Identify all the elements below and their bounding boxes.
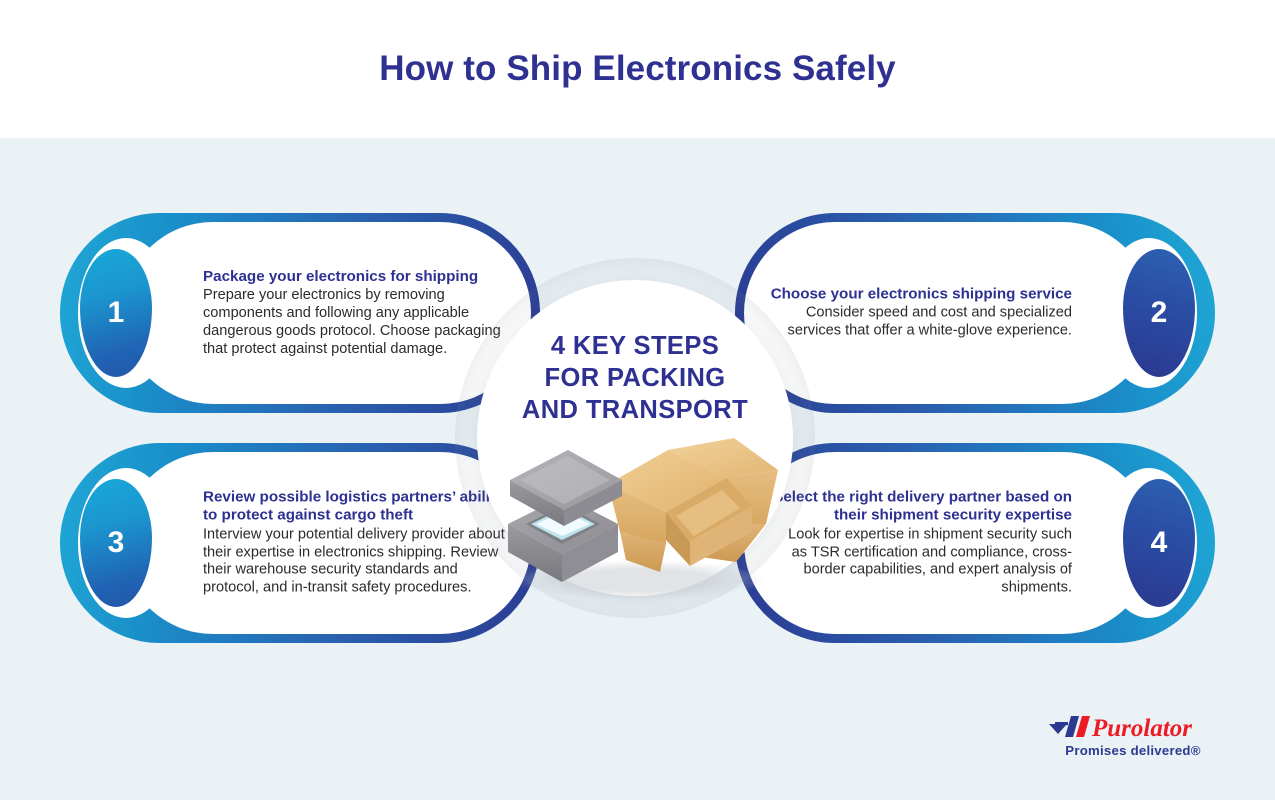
purolator-logo: Purolator Promises delivered® (1049, 712, 1217, 758)
hub-title: 4 KEY STEPS FOR PACKING AND TRANSPORT (522, 330, 748, 426)
step-number-label: 4 (1151, 526, 1168, 560)
header-band: How to Ship Electronics Safely (0, 0, 1275, 138)
hub-title-line-3: AND TRANSPORT (522, 394, 748, 426)
infographic-canvas: 1 Package your electronics for shipping … (0, 138, 1275, 800)
foam-case-and-box-icon (490, 432, 780, 602)
logo-tagline: Promises delivered® (1049, 743, 1217, 758)
page-title: How to Ship Electronics Safely (379, 49, 895, 89)
center-hub: 4 KEY STEPS FOR PACKING AND TRANSPORT (455, 258, 815, 618)
purolator-wordmark-icon: Purolator (1049, 712, 1217, 742)
step-number-label: 2 (1151, 296, 1168, 330)
step-number-label: 1 (108, 296, 125, 330)
svg-text:Purolator: Purolator (1091, 715, 1192, 742)
hub-title-line-2: FOR PACKING (522, 362, 748, 394)
hub-title-line-1: 4 KEY STEPS (522, 330, 748, 362)
packing-illustration (490, 432, 780, 607)
step-number-label: 3 (108, 526, 125, 560)
hub-circle: 4 KEY STEPS FOR PACKING AND TRANSPORT (477, 280, 793, 596)
